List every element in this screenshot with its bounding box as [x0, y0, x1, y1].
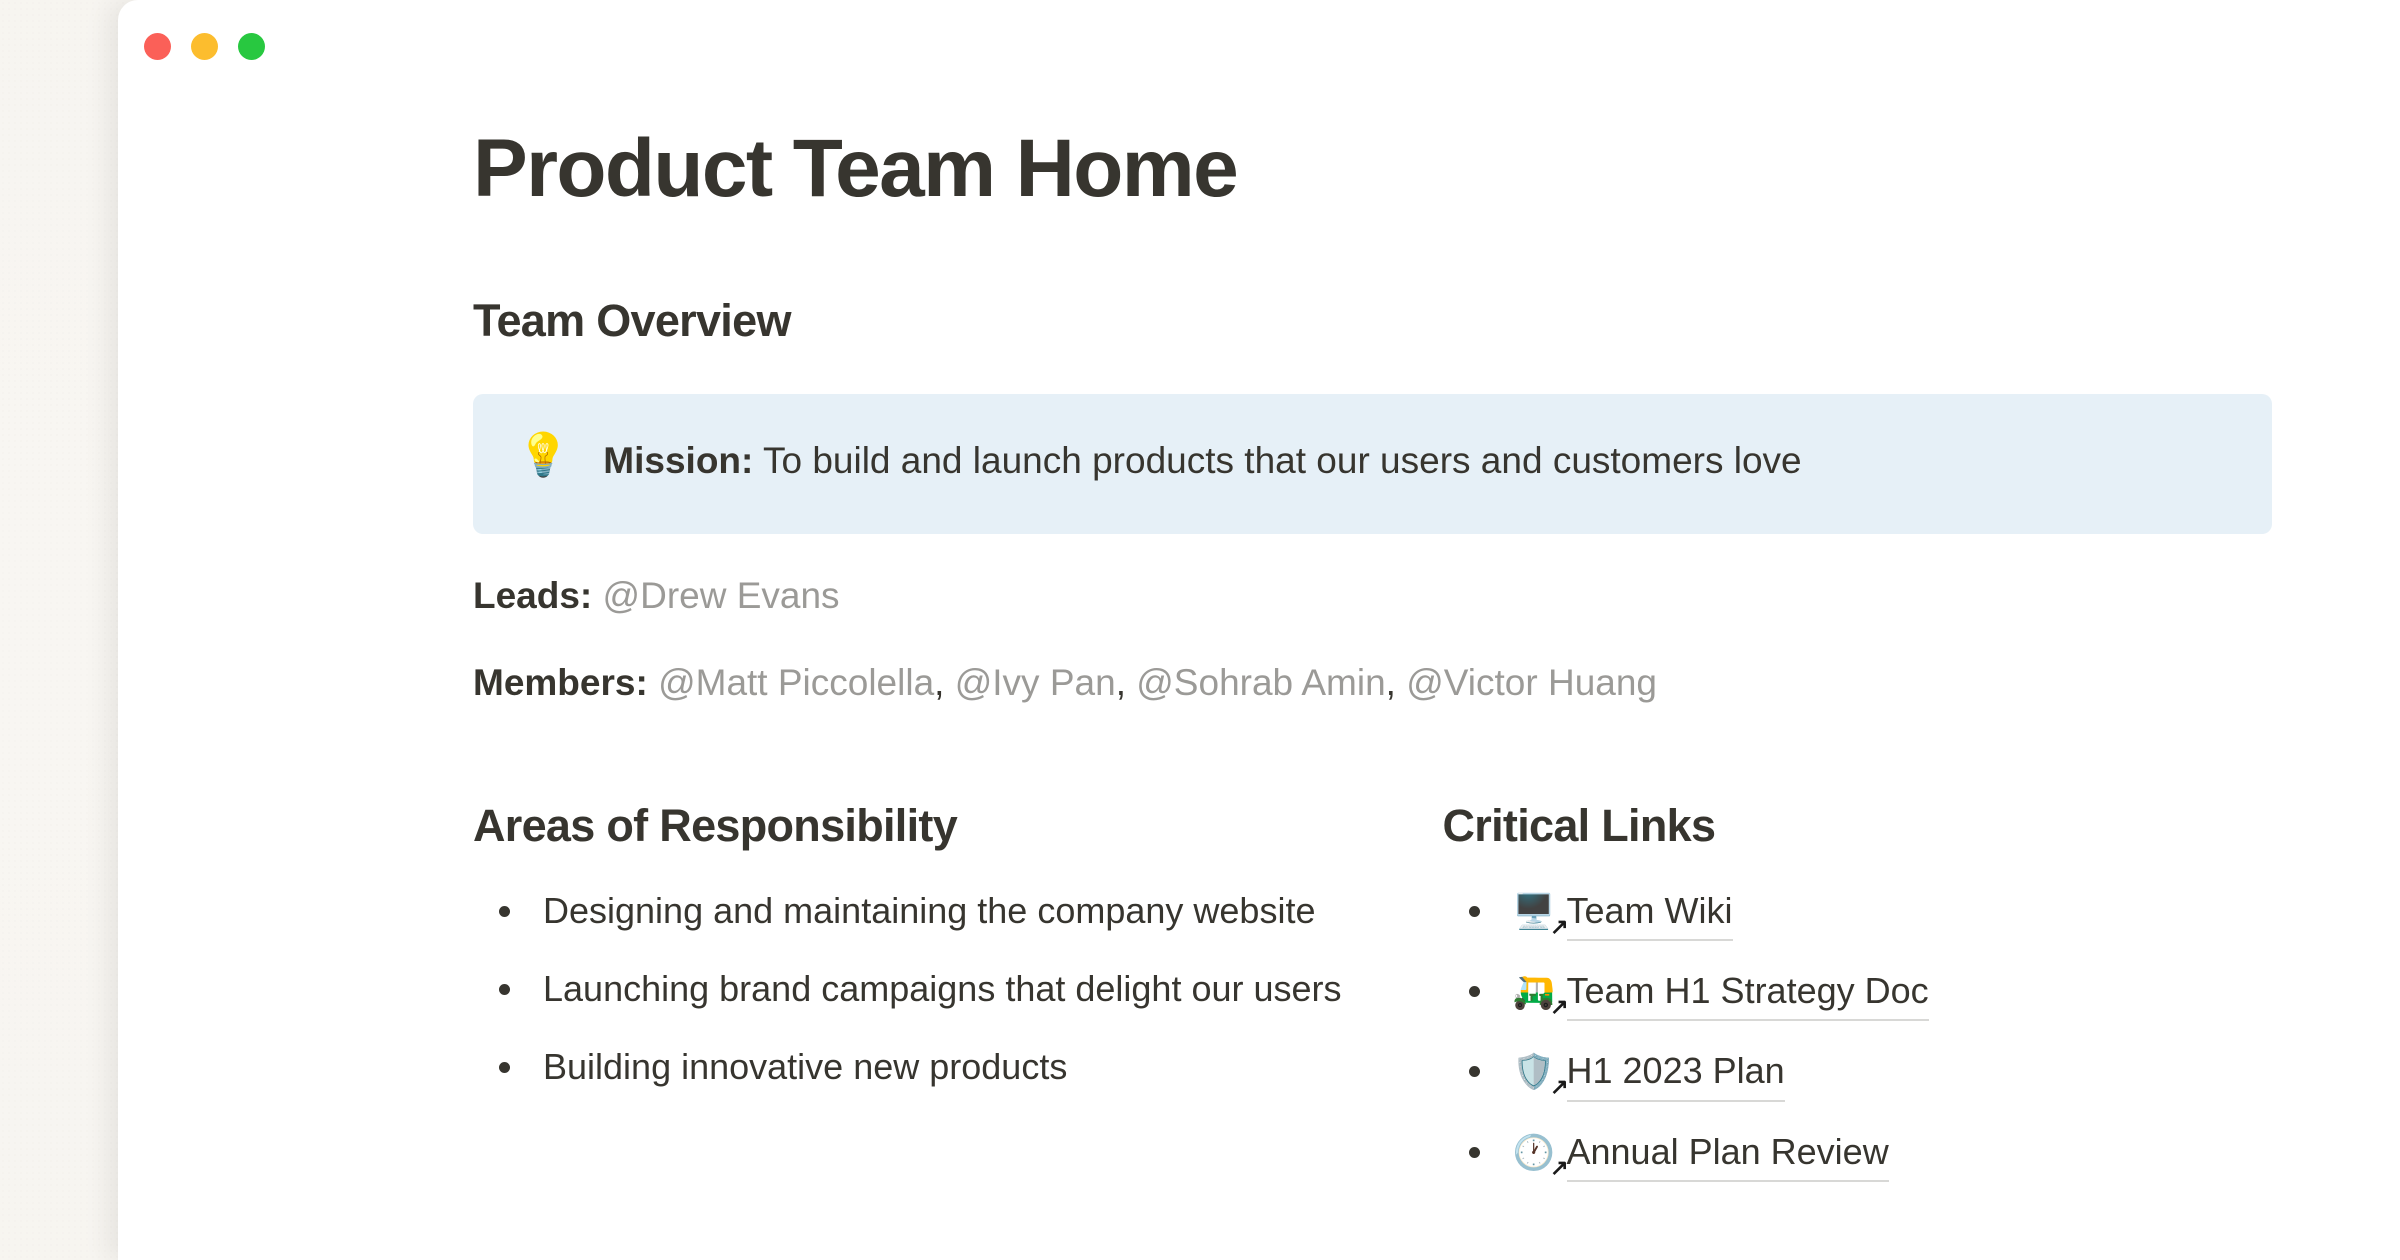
critical-links-column: Critical Links 🖥️ ↗ Team Wiki [1373, 801, 2273, 1206]
leads-label: Leads: [473, 575, 592, 616]
two-column-section: Areas of Responsibility Designing and ma… [473, 801, 2272, 1206]
link-label: H1 2023 Plan [1567, 1046, 1785, 1101]
external-link-arrow-icon: ↗ [1550, 1157, 1568, 1179]
link-h1-2023-plan[interactable]: 🛡️ ↗ H1 2023 Plan [1513, 1046, 1785, 1101]
leads-line: Leads: @Drew Evans [473, 570, 2272, 622]
members-line: Members: @Matt Piccolella, @Ivy Pan, @So… [473, 657, 2272, 709]
member-separator: , [1116, 662, 1126, 703]
list-item: 🛡️ ↗ H1 2023 Plan [1443, 1045, 2273, 1101]
maximize-window-button[interactable] [238, 33, 265, 60]
clock-face-icon: 🕐 ↗ [1513, 1136, 1567, 1170]
link-team-wiki[interactable]: 🖥️ ↗ Team Wiki [1513, 886, 1733, 941]
external-link-arrow-icon: ↗ [1550, 1076, 1568, 1098]
list-item[interactable]: Building innovative new products [473, 1041, 1373, 1093]
minimize-window-button[interactable] [191, 33, 218, 60]
mission-callout[interactable]: 💡 Mission: To build and launch products … [473, 394, 2272, 534]
page-title[interactable]: Product Team Home [473, 128, 2272, 210]
mention-victor-huang[interactable]: @Victor Huang [1406, 662, 1657, 703]
members-label: Members: [473, 662, 648, 703]
list-item[interactable]: Launching brand campaigns that delight o… [473, 963, 1373, 1015]
traffic-light-group [144, 33, 265, 60]
link-annual-plan-review[interactable]: 🕐 ↗ Annual Plan Review [1513, 1127, 1889, 1182]
light-bulb-icon: 💡 [517, 432, 569, 478]
desktop-computer-icon: 🖥️ ↗ [1513, 895, 1567, 929]
team-overview-heading[interactable]: Team Overview [473, 296, 2272, 346]
window-titlebar [118, 0, 2400, 92]
member-separator: , [934, 662, 944, 703]
list-item: 🕐 ↗ Annual Plan Review [1443, 1126, 2273, 1182]
critical-links-heading[interactable]: Critical Links [1443, 801, 2273, 851]
list-item: 🖥️ ↗ Team Wiki [1443, 885, 2273, 941]
link-label: Annual Plan Review [1567, 1127, 1889, 1182]
mission-text: To build and launch products that our us… [753, 440, 1801, 481]
document-body: Product Team Home Team Overview 💡 Missio… [118, 128, 2400, 1206]
link-label: Team Wiki [1567, 886, 1733, 941]
critical-links-list: 🖥️ ↗ Team Wiki 🛺 ↗ [1443, 885, 2273, 1183]
external-link-arrow-icon: ↗ [1550, 916, 1568, 938]
link-label: Team H1 Strategy Doc [1567, 966, 1929, 1021]
external-link-arrow-icon: ↗ [1550, 996, 1568, 1018]
mission-label: Mission: [603, 440, 753, 481]
list-item[interactable]: Designing and maintaining the company we… [473, 885, 1373, 937]
mention-matt-piccolella[interactable]: @Matt Piccolella [658, 662, 934, 703]
mention-drew-evans[interactable]: @Drew Evans [603, 575, 840, 616]
list-item: 🛺 ↗ Team H1 Strategy Doc [1443, 965, 2273, 1021]
responsibilities-list: Designing and maintaining the company we… [473, 885, 1373, 1094]
close-window-button[interactable] [144, 33, 171, 60]
mission-callout-text: Mission: To build and launch products th… [603, 432, 1801, 488]
shield-icon: 🛡️ ↗ [1513, 1055, 1567, 1089]
app-window: Product Team Home Team Overview 💡 Missio… [118, 0, 2400, 1260]
auto-rickshaw-icon: 🛺 ↗ [1513, 975, 1567, 1009]
link-team-h1-strategy-doc[interactable]: 🛺 ↗ Team H1 Strategy Doc [1513, 966, 1929, 1021]
mention-ivy-pan[interactable]: @Ivy Pan [955, 662, 1116, 703]
responsibilities-column: Areas of Responsibility Designing and ma… [473, 801, 1373, 1206]
mention-sohrab-amin[interactable]: @Sohrab Amin [1136, 662, 1385, 703]
member-separator: , [1386, 662, 1396, 703]
responsibilities-heading[interactable]: Areas of Responsibility [473, 801, 1373, 851]
